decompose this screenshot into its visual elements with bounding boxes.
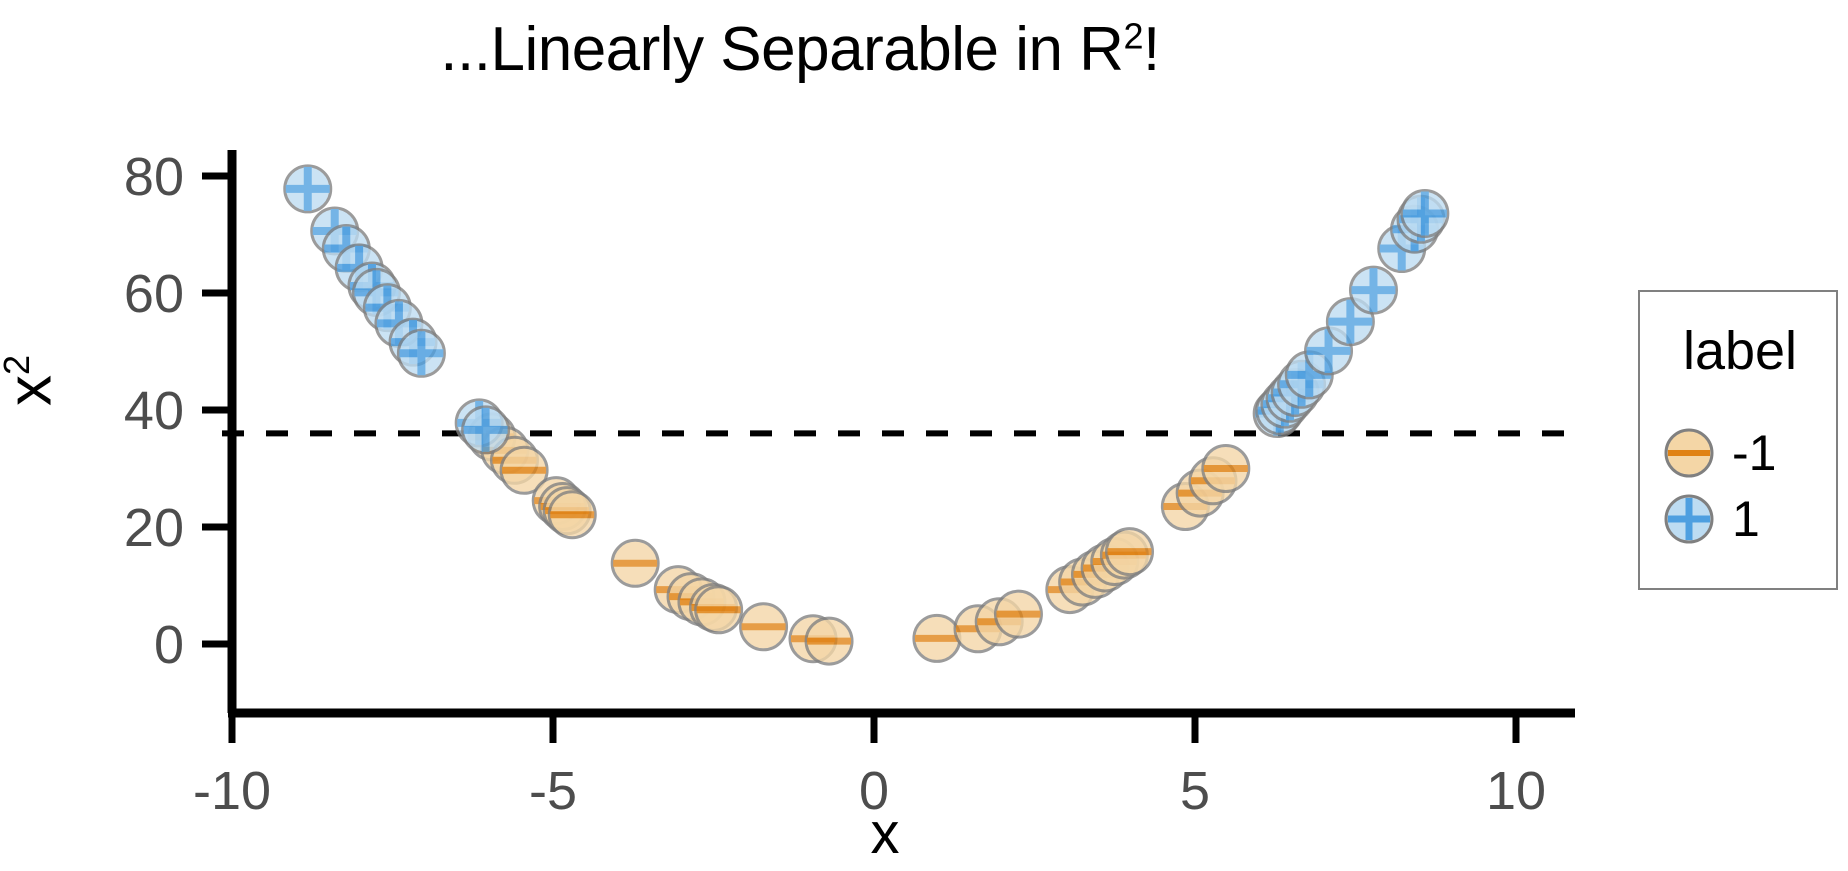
legend-title: label — [1640, 320, 1840, 382]
y-tick-label: 20 — [124, 498, 184, 558]
data-point — [549, 492, 595, 538]
y-tick-label: 40 — [124, 381, 184, 441]
series-negative — [469, 414, 1249, 664]
data-point — [1350, 267, 1396, 313]
plus-circle-icon — [1662, 492, 1716, 546]
data-point — [463, 407, 509, 453]
y-axis-title-base: x — [0, 375, 65, 406]
y-tick-label: 60 — [124, 264, 184, 324]
minus-circle-icon — [1662, 426, 1716, 480]
legend-label-minus-one: -1 — [1732, 428, 1776, 478]
data-point — [914, 615, 960, 661]
chart-root: ...Linearly Separable in R2! -10-5051002… — [0, 0, 1848, 871]
data-point — [612, 540, 658, 586]
data-point — [1107, 529, 1153, 575]
data-point — [995, 591, 1041, 637]
series-positive — [285, 166, 1448, 453]
scatter-plot: -10-50510020406080 — [0, 0, 1848, 871]
data-point — [741, 604, 787, 650]
data-point — [696, 587, 742, 633]
legend-box: label -1 1 — [1638, 290, 1838, 590]
y-tick-label: 0 — [154, 615, 184, 675]
y-axis-title-superscript: 2 — [0, 355, 37, 375]
data-point — [285, 166, 331, 212]
data-point — [1402, 190, 1448, 236]
data-point — [806, 618, 852, 664]
data-point — [1203, 446, 1249, 492]
y-axis-title: x2 — [0, 321, 66, 441]
x-axis-title: x — [200, 800, 1570, 867]
legend-item-minus-one[interactable]: -1 — [1662, 422, 1832, 484]
legend-label-one: 1 — [1732, 494, 1760, 544]
legend-item-one[interactable]: 1 — [1662, 488, 1832, 550]
y-tick-label: 80 — [124, 147, 184, 207]
data-point — [398, 330, 444, 376]
